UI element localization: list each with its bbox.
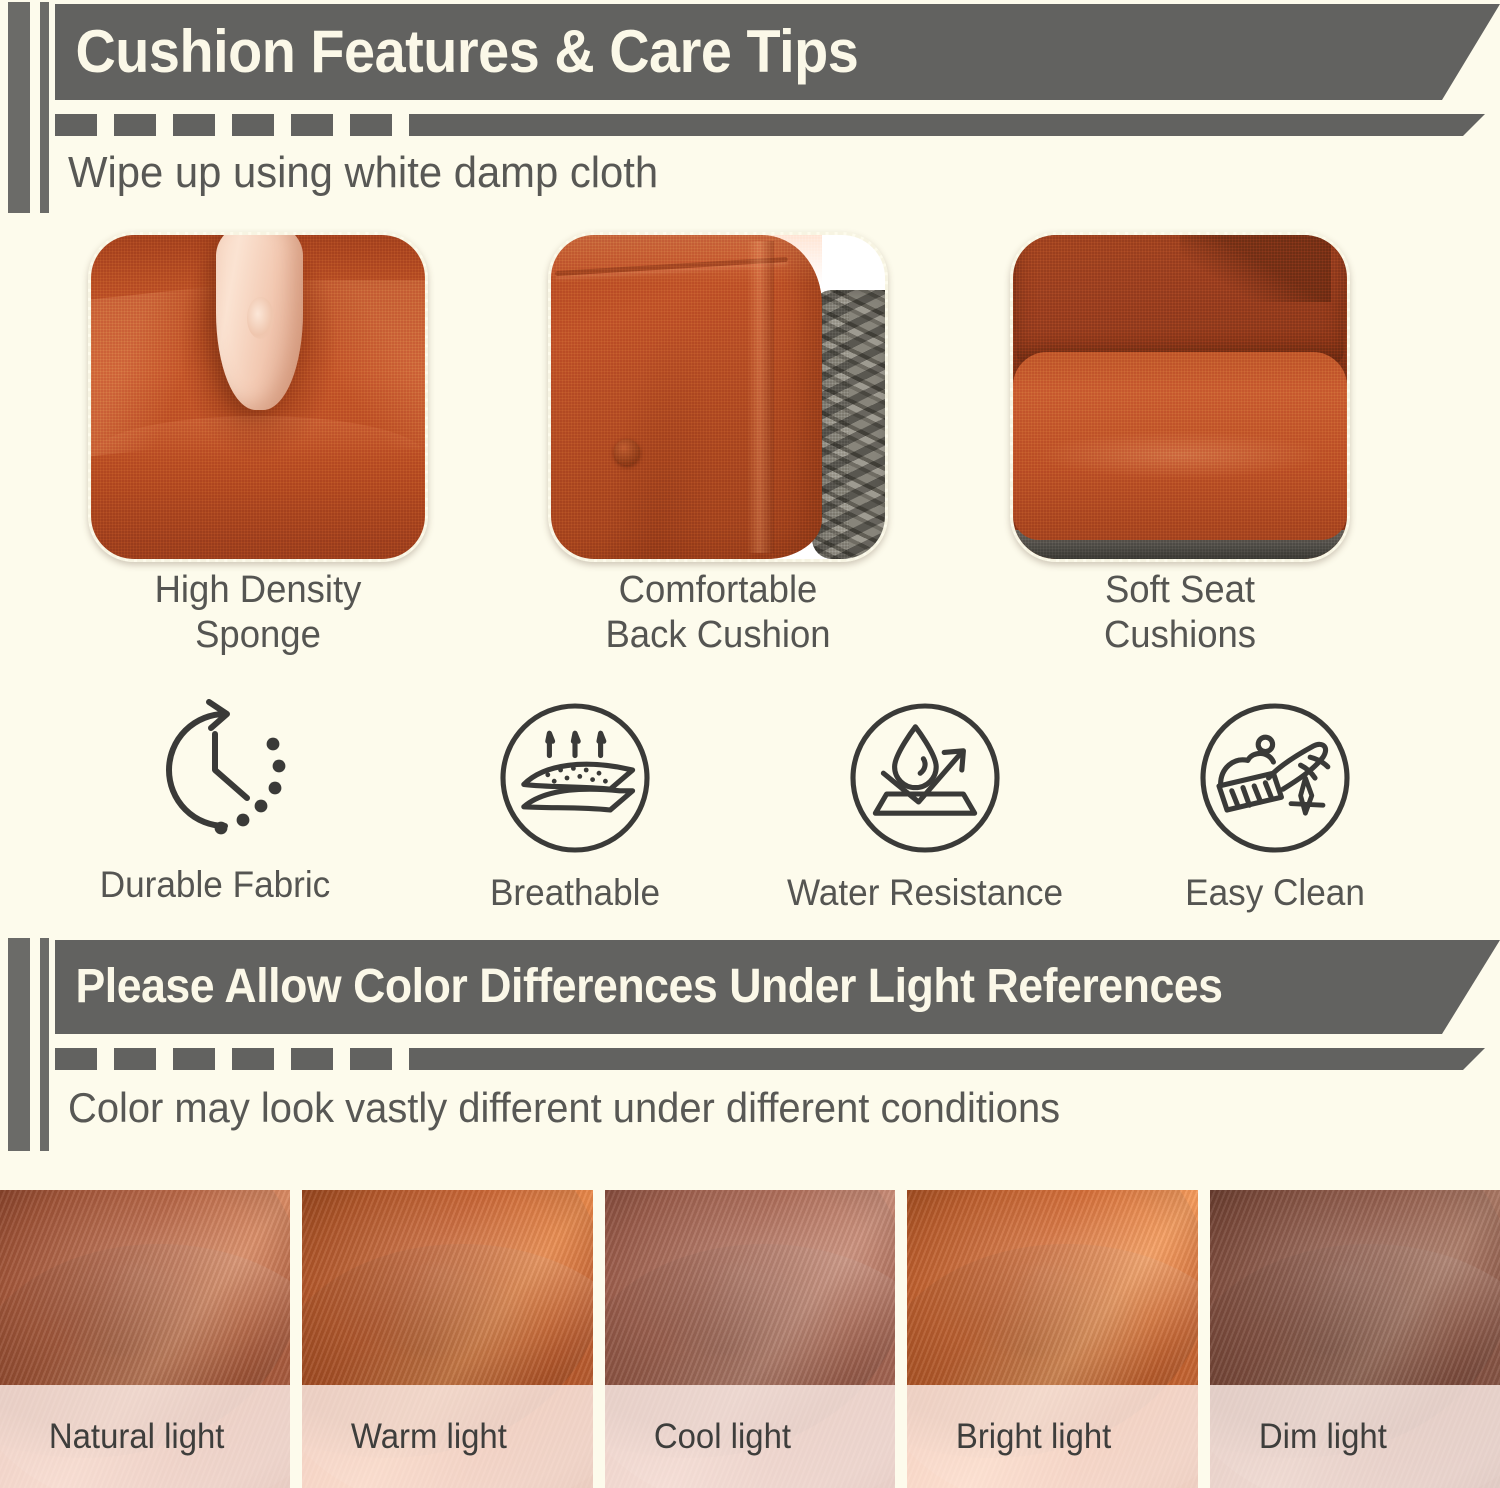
dash-segment bbox=[55, 1048, 97, 1070]
feature-label: Easy Clean bbox=[1118, 872, 1432, 914]
dash-tail bbox=[409, 1048, 1485, 1070]
seat-cushion-photo bbox=[1010, 232, 1350, 562]
dash-segment bbox=[232, 114, 274, 136]
cushion-card-caption: Comfortable Back Cushion bbox=[555, 568, 881, 658]
header-rail-thick bbox=[8, 938, 30, 1151]
dash-segment bbox=[291, 1048, 333, 1070]
dash-segment bbox=[173, 114, 215, 136]
hand-pressing-cushion-photo bbox=[88, 232, 428, 562]
light-reference-swatch-row: Natural light Warm light Cool light Br bbox=[0, 1190, 1500, 1488]
dashed-divider bbox=[55, 114, 1485, 136]
feature-item-water-resistance: Water Resistance bbox=[760, 698, 1090, 914]
dash-segment bbox=[173, 1048, 215, 1070]
dash-segment bbox=[291, 114, 333, 136]
section-banner-primary: Cushion Features & Care Tips bbox=[55, 4, 1500, 100]
fabric-weave-texture bbox=[548, 232, 849, 562]
fabric-weave-texture bbox=[1010, 232, 1350, 562]
feature-item-durable-fabric: Durable Fabric bbox=[50, 690, 380, 906]
swatch-label: Dim light bbox=[1210, 1417, 1387, 1457]
dash-segment bbox=[114, 114, 156, 136]
light-swatch: Natural light bbox=[0, 1190, 290, 1488]
caption-line-1: Comfortable bbox=[555, 568, 881, 613]
dash-tail bbox=[409, 114, 1485, 136]
swatch-label: Warm light bbox=[302, 1417, 507, 1457]
photo-backdrop bbox=[551, 235, 885, 559]
section-subheading: Color may look vastly different under di… bbox=[68, 1084, 1060, 1132]
light-swatch: Bright light bbox=[907, 1190, 1197, 1488]
hand-graphic bbox=[216, 232, 303, 410]
cushion-card: High Density Sponge bbox=[88, 232, 428, 562]
header-rail-thick bbox=[8, 2, 30, 213]
back-cushion-wicker-photo bbox=[548, 232, 888, 562]
section-banner-secondary: Please Allow Color Differences Under Lig… bbox=[55, 940, 1500, 1034]
swatch-label-band: Cool light bbox=[605, 1385, 895, 1488]
feature-item-easy-clean: Easy Clean bbox=[1110, 698, 1440, 914]
light-swatch: Warm light bbox=[302, 1190, 592, 1488]
caption-line-2: Cushions bbox=[1017, 613, 1343, 658]
swatch-label-band: Natural light bbox=[0, 1385, 290, 1488]
dash-segment bbox=[350, 1048, 392, 1070]
feature-icon-row: Durable Fabric bbox=[0, 690, 1500, 920]
dashed-divider bbox=[55, 1048, 1485, 1070]
caption-line-2: Back Cushion bbox=[555, 613, 881, 658]
swatch-label-band: Warm light bbox=[302, 1385, 592, 1488]
banner-title: Cushion Features & Care Tips bbox=[55, 22, 858, 82]
header-rail-thin bbox=[40, 2, 49, 213]
caption-line-1: High Density bbox=[95, 568, 421, 613]
knuckle-highlight bbox=[247, 297, 274, 338]
feature-item-breathable: Breathable bbox=[410, 698, 740, 914]
section-subheading: Wipe up using white damp cloth bbox=[68, 148, 658, 198]
caption-line-1: Soft Seat bbox=[1017, 568, 1343, 613]
feature-label: Water Resistance bbox=[768, 872, 1082, 914]
fabric-airflow-icon bbox=[495, 698, 655, 858]
clock-arrow-icon bbox=[115, 690, 315, 850]
swatch-label-band: Bright light bbox=[907, 1385, 1197, 1488]
swatch-label: Cool light bbox=[605, 1417, 791, 1457]
swatch-label: Bright light bbox=[907, 1417, 1111, 1457]
feature-label: Breathable bbox=[418, 872, 732, 914]
cushion-card-caption: High Density Sponge bbox=[95, 568, 421, 658]
cushion-card: Soft Seat Cushions bbox=[1010, 232, 1350, 562]
feature-label: Durable Fabric bbox=[58, 864, 372, 906]
cushion-features-section: Cushion Features & Care Tips Wipe up usi… bbox=[0, 0, 1500, 930]
light-swatch: Cool light bbox=[605, 1190, 895, 1488]
swatch-label-band: Dim light bbox=[1210, 1385, 1500, 1488]
water-droplet-repel-icon bbox=[845, 698, 1005, 858]
dash-segment bbox=[350, 114, 392, 136]
dash-segment bbox=[232, 1048, 274, 1070]
brush-sparkle-icon bbox=[1195, 698, 1355, 858]
cushion-card-row: High Density Sponge bbox=[0, 232, 1500, 672]
light-swatch: Dim light bbox=[1210, 1190, 1500, 1488]
cushion-fabric bbox=[91, 235, 425, 559]
swatch-label: Natural light bbox=[0, 1417, 224, 1457]
cushion-card: Comfortable Back Cushion bbox=[548, 232, 888, 562]
seat-scene bbox=[1013, 235, 1347, 559]
caption-line-2: Sponge bbox=[95, 613, 421, 658]
dash-segment bbox=[114, 1048, 156, 1070]
dash-segment bbox=[55, 114, 97, 136]
header-rail-thin bbox=[40, 938, 49, 1151]
back-cushion-body bbox=[548, 235, 822, 559]
banner-title: Please Allow Color Differences Under Lig… bbox=[55, 963, 1223, 1011]
cushion-card-caption: Soft Seat Cushions bbox=[1017, 568, 1343, 658]
